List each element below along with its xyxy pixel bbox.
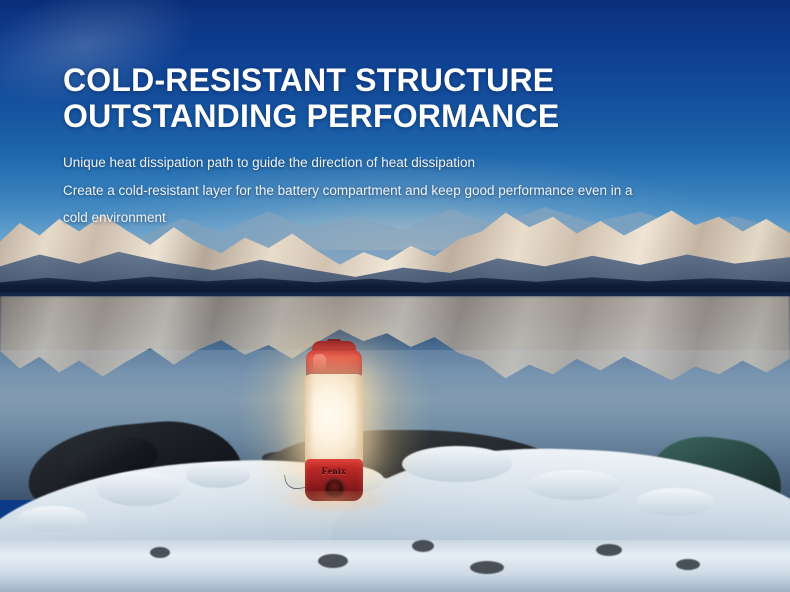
- rock-grit: [676, 559, 700, 570]
- rock-grit: [412, 540, 434, 552]
- product-feature-banner: Fenix COLD-RESISTANT STRUCTURE OUTSTANDI…: [0, 0, 790, 592]
- fenix-lantern-product: Fenix: [303, 341, 365, 501]
- page-title: COLD-RESISTANT STRUCTURE OUTSTANDING PER…: [63, 62, 559, 134]
- foreground: [0, 402, 790, 592]
- feature-description: Unique heat dissipation path to guide th…: [63, 149, 763, 232]
- snow-clump: [96, 472, 182, 506]
- rock-grit: [470, 561, 504, 574]
- lantern-diffuser-edge-left: [305, 374, 314, 466]
- rock-grit: [318, 554, 348, 568]
- fenix-brand-logo: Fenix: [303, 466, 365, 476]
- snow-clump: [636, 488, 714, 516]
- snow-ground-strip: [0, 540, 790, 592]
- snow-clump: [402, 446, 512, 482]
- lantern-diffuser-edge-right: [354, 374, 363, 466]
- lantern-cap-highlight: [313, 354, 326, 372]
- snow-clump: [528, 470, 620, 500]
- rock-grit: [596, 544, 622, 556]
- rock-grit: [150, 547, 170, 558]
- feature-line-2: Create a cold-resistant layer for the ba…: [63, 177, 763, 205]
- feature-line-1: Unique heat dissipation path to guide th…: [63, 149, 763, 177]
- feature-line-3: cold environment: [63, 204, 763, 232]
- snow-clump: [18, 506, 88, 532]
- lantern-ground-glow: [277, 491, 391, 513]
- snow-clump: [186, 462, 250, 488]
